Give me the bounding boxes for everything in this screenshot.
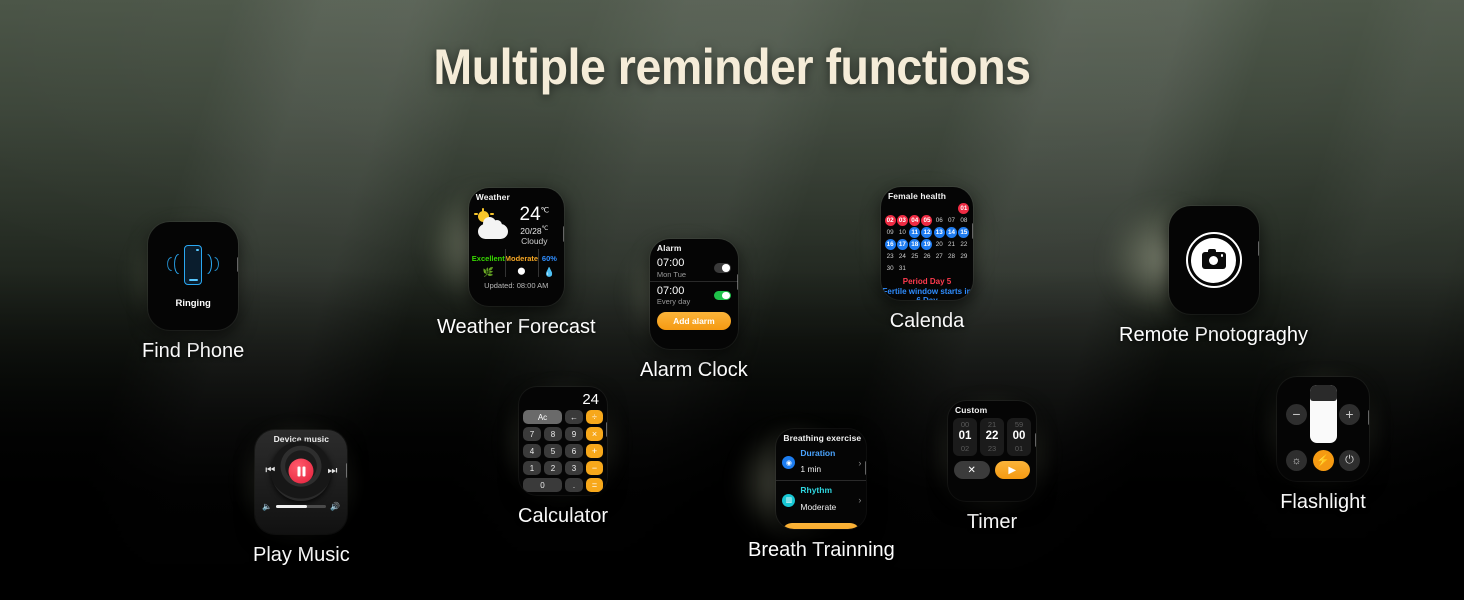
alarm-screen-title: Alarm xyxy=(650,239,738,254)
calendar-day[interactable]: 04 xyxy=(909,215,920,226)
timer-seconds-picker[interactable]: 590001 xyxy=(1007,418,1031,456)
calendar-day[interactable]: 07 xyxy=(946,215,957,226)
timer-minutes-picker[interactable]: 212223 xyxy=(980,418,1004,456)
calendar-day[interactable]: 01 xyxy=(958,203,969,214)
weather-temp-unit: ℃ xyxy=(541,206,549,215)
calculator-key-8[interactable]: 8 xyxy=(544,427,562,441)
watch-breathing[interactable]: Breathing exercise ◉ Duration 1 min › ▥ … xyxy=(776,429,866,529)
sun-behind-cloud-icon xyxy=(474,209,510,241)
watch-camera[interactable] xyxy=(1169,206,1259,314)
brightness-decrease-button[interactable]: − xyxy=(1286,404,1307,425)
promo-banner: Multiple reminder functions Ringing Find… xyxy=(0,0,1464,600)
calendar-day[interactable]: 15 xyxy=(958,227,969,238)
calculator-backspace-key[interactable]: ← xyxy=(565,410,583,424)
feature-music: Device music ⏮ ⏭ 🔈 🔊 Play Music xyxy=(253,430,350,567)
leaf-icon: 🌿 xyxy=(472,267,505,278)
calendar-day[interactable]: 11 xyxy=(909,227,920,238)
alarm-row[interactable]: 07:00 Every day xyxy=(650,281,738,309)
caption-calendar: Calenda xyxy=(890,310,965,333)
weather-stat-uv: Moderate ⬤ xyxy=(505,248,538,278)
calendar-day[interactable]: 29 xyxy=(958,251,969,262)
breathing-rhythm-row[interactable]: ▥ Rhythm Moderate › xyxy=(776,480,866,517)
calculator-key-1[interactable]: 1 xyxy=(523,461,541,475)
camera-shutter-icon[interactable] xyxy=(1186,232,1242,288)
calendar-day[interactable]: 12 xyxy=(921,227,932,238)
calculator-display: 24 xyxy=(523,390,603,410)
weather-range: 20/28 xyxy=(520,226,541,236)
calculator-keypad[interactable]: Ac←7894561230. xyxy=(523,410,583,492)
breathing-duration-row[interactable]: ◉ Duration 1 min › xyxy=(776,444,866,480)
weather-range-unit: ℃ xyxy=(542,227,549,233)
calendar-day-empty xyxy=(921,203,932,214)
weather-screen-title: Weather xyxy=(469,188,564,203)
picker-value-above: 21 xyxy=(980,420,1004,429)
chevron-right-icon: › xyxy=(858,495,861,505)
timer-screen-title: Custom xyxy=(948,401,1036,416)
feature-timer: Custom 000102212223590001 ✕ ▶ Timer xyxy=(948,401,1036,534)
calendar-day[interactable]: 05 xyxy=(921,215,932,226)
calendar-day[interactable]: 14 xyxy=(946,227,957,238)
alarm-toggle[interactable] xyxy=(714,291,731,301)
caption-calculator: Calculator xyxy=(518,505,608,528)
watch-music[interactable]: Device music ⏮ ⏭ 🔈 🔊 xyxy=(255,430,347,534)
caption-weather: Weather Forecast xyxy=(437,316,596,339)
calendar-day-empty xyxy=(946,203,957,214)
calendar-screen-title: Female health xyxy=(881,187,973,202)
calculator-operators[interactable]: ÷×+−= xyxy=(586,410,603,492)
feature-breathing: Breathing exercise ◉ Duration 1 min › ▥ … xyxy=(748,429,895,562)
calculator-op-plus[interactable]: + xyxy=(586,444,603,458)
calendar-day[interactable]: 17 xyxy=(897,239,908,250)
calculator-key-9[interactable]: 9 xyxy=(565,427,583,441)
alarm-toggle[interactable] xyxy=(714,263,731,273)
pause-icon[interactable] xyxy=(289,459,314,484)
volume-high-icon: 🔊 xyxy=(330,502,340,511)
calendar-day[interactable]: 21 xyxy=(946,239,957,250)
calculator-key-2[interactable]: 2 xyxy=(544,461,562,475)
phone-ringing-icon xyxy=(167,243,219,289)
calculator-key-3[interactable]: 3 xyxy=(565,461,583,475)
watch-flashlight[interactable]: − + ☼ ⚡ ⏻ xyxy=(1277,377,1369,481)
calendar-day[interactable]: 06 xyxy=(934,215,945,226)
breathing-screen-title: Breathing exercise xyxy=(776,429,866,444)
caption-flashlight: Flashlight xyxy=(1280,491,1366,514)
caption-timer: Timer xyxy=(967,511,1017,534)
calendar-day[interactable]: 26 xyxy=(921,251,932,262)
feature-weather: Weather 24℃ 20/28℃ Cloudy Excellent xyxy=(437,188,596,339)
calendar-grid[interactable]: 0102030405060708091011121314151617181920… xyxy=(881,202,973,274)
clock-icon: ◉ xyxy=(782,456,795,469)
calculator-clear-key[interactable]: Ac xyxy=(523,410,562,424)
weather-temperature: 24 xyxy=(520,204,541,225)
timer-hours-picker[interactable]: 000102 xyxy=(953,418,977,456)
calendar-day[interactable]: 22 xyxy=(958,239,969,250)
watch-find-phone[interactable]: Ringing xyxy=(148,222,238,330)
calendar-day[interactable]: 27 xyxy=(934,251,945,262)
skip-previous-icon[interactable]: ⏮ xyxy=(265,465,275,478)
add-alarm-button[interactable]: Add alarm xyxy=(657,312,731,330)
calendar-day-empty xyxy=(885,203,896,214)
caption-breathing: Breath Trainning xyxy=(748,539,895,562)
picker-value-above: 59 xyxy=(1007,420,1031,429)
calculator-op-divide[interactable]: ÷ xyxy=(586,410,603,424)
calculator-key-0[interactable]: 0 xyxy=(523,478,562,492)
calculator-key-4[interactable]: 4 xyxy=(523,444,541,458)
volume-slider[interactable] xyxy=(276,505,326,508)
feature-alarm: Alarm 07:00 Mon Tue 07:00 Every day Add … xyxy=(640,239,748,382)
calendar-day[interactable]: 19 xyxy=(921,239,932,250)
watch-calendar[interactable]: Female health 01020304050607080910111213… xyxy=(881,187,973,300)
calculator-op-minus[interactable]: − xyxy=(586,461,603,475)
weather-condition: Cloudy xyxy=(510,236,559,246)
picker-value-below: 01 xyxy=(1007,444,1031,453)
calendar-day[interactable]: 18 xyxy=(909,239,920,250)
calendar-day[interactable]: 30 xyxy=(885,263,896,274)
calculator-key-decimal[interactable]: . xyxy=(565,478,583,492)
calendar-day[interactable]: 03 xyxy=(897,215,908,226)
calculator-op-multiply[interactable]: × xyxy=(586,427,603,441)
feature-calendar: Female health 01020304050607080910111213… xyxy=(881,187,973,333)
calendar-day[interactable]: 09 xyxy=(885,227,896,238)
feature-find-phone: Ringing Find Phone xyxy=(142,222,244,363)
chevron-right-icon: › xyxy=(858,458,861,468)
watch-calculator[interactable]: 24 Ac←7894561230. ÷×+−= xyxy=(519,387,607,495)
calendar-day[interactable]: 23 xyxy=(885,251,896,262)
brightness-icon[interactable]: ☼ xyxy=(1286,450,1307,471)
ringing-status: Ringing xyxy=(175,298,210,309)
picker-value-below: 02 xyxy=(953,444,977,453)
calendar-day[interactable]: 28 xyxy=(946,251,957,262)
picker-value-below: 23 xyxy=(980,444,1004,453)
calculator-key-7[interactable]: 7 xyxy=(523,427,541,441)
weather-updated: Updated: 08:00 AM xyxy=(469,281,564,290)
fertile-note: Fertile window starts in 6 Day xyxy=(881,287,973,300)
feature-flashlight: − + ☼ ⚡ ⏻ Flashlight xyxy=(1277,377,1369,514)
calendar-day[interactable]: 02 xyxy=(885,215,896,226)
picker-value-selected: 00 xyxy=(1007,429,1031,443)
calculator-key-5[interactable]: 5 xyxy=(544,444,562,458)
calculator-key-6[interactable]: 6 xyxy=(565,444,583,458)
power-icon[interactable]: ⏻ xyxy=(1339,450,1360,471)
picker-value-above: 00 xyxy=(953,420,977,429)
weather-stat-air-quality: Excellent 🌿 xyxy=(472,248,505,278)
calendar-day-empty xyxy=(909,203,920,214)
calendar-day[interactable]: 13 xyxy=(934,227,945,238)
flash-bolt-icon[interactable]: ⚡ xyxy=(1313,450,1334,471)
calculator-op-equals[interactable]: = xyxy=(586,478,603,492)
feature-camera: Remote Pnotograghy xyxy=(1119,206,1308,347)
caption-alarm: Alarm Clock xyxy=(640,359,748,382)
weather-stats: Excellent 🌿 Moderate ⬤ 60% 💧 xyxy=(469,248,564,278)
calendar-day[interactable]: 08 xyxy=(958,215,969,226)
timer-pickers[interactable]: 000102212223590001 xyxy=(948,416,1036,456)
calendar-day-empty xyxy=(897,203,908,214)
waveform-icon: ▥ xyxy=(782,494,795,507)
calendar-day[interactable]: 10 xyxy=(897,227,908,238)
droplet-icon: 💧 xyxy=(538,267,561,278)
calendar-day[interactable]: 31 xyxy=(897,263,908,274)
skip-next-icon[interactable]: ⏭ xyxy=(327,465,337,478)
start-button[interactable]: Start xyxy=(782,523,860,529)
caption-find-phone: Find Phone xyxy=(142,340,244,363)
page-title: Multiple reminder functions xyxy=(51,38,1413,96)
watch-timer[interactable]: Custom 000102212223590001 ✕ ▶ xyxy=(948,401,1036,501)
volume-low-icon: 🔈 xyxy=(262,502,272,511)
calendar-day[interactable]: 20 xyxy=(934,239,945,250)
play-icon[interactable]: ▶ xyxy=(995,461,1031,479)
close-icon[interactable]: ✕ xyxy=(954,461,990,479)
caption-camera: Remote Pnotograghy xyxy=(1119,324,1308,347)
caption-music: Play Music xyxy=(253,544,350,567)
feature-calculator: 24 Ac←7894561230. ÷×+−= Calculator xyxy=(518,387,608,528)
dot-icon: ⬤ xyxy=(505,267,538,275)
weather-stat-humidity: 60% 💧 xyxy=(538,248,561,278)
calendar-day-empty xyxy=(934,203,945,214)
picker-value-selected: 01 xyxy=(953,429,977,443)
watch-alarm[interactable]: Alarm 07:00 Mon Tue 07:00 Every day Add … xyxy=(650,239,738,349)
watch-weather[interactable]: Weather 24℃ 20/28℃ Cloudy Excellent xyxy=(469,188,564,306)
calendar-day[interactable]: 24 xyxy=(897,251,908,262)
alarm-row[interactable]: 07:00 Mon Tue xyxy=(650,254,738,281)
brightness-slider[interactable] xyxy=(1310,385,1337,443)
calendar-day[interactable]: 16 xyxy=(885,239,896,250)
picker-value-selected: 22 xyxy=(980,429,1004,443)
calendar-day[interactable]: 25 xyxy=(909,251,920,262)
period-note: Period Day 5 xyxy=(881,277,973,287)
brightness-increase-button[interactable]: + xyxy=(1339,404,1360,425)
